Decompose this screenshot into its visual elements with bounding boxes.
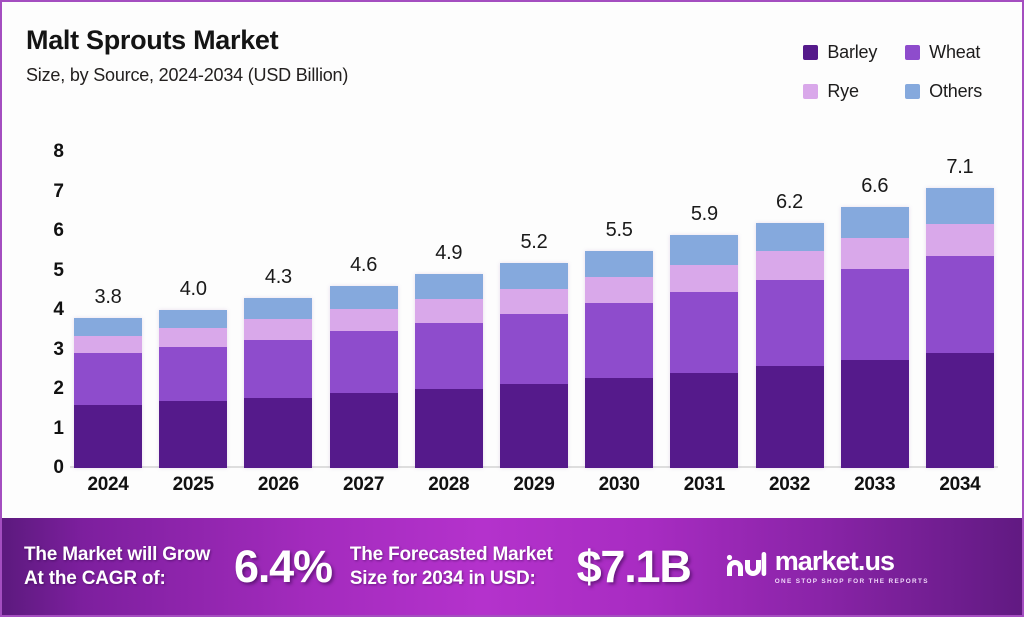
bar-segment-rye[interactable] xyxy=(585,277,653,303)
bar-segment-rye[interactable] xyxy=(756,251,824,280)
stacked-bar[interactable] xyxy=(415,274,483,468)
bar-segment-others[interactable] xyxy=(330,286,398,309)
legend-item-wheat[interactable]: Wheat xyxy=(905,42,982,63)
bar-segment-others[interactable] xyxy=(841,207,909,238)
bar-column-2032[interactable]: 6.2 xyxy=(756,152,824,468)
bar-column-2027[interactable]: 4.6 xyxy=(330,152,398,468)
legend-label: Others xyxy=(929,81,982,102)
market-us-logo-icon xyxy=(723,548,767,585)
bar-column-2030[interactable]: 5.5 xyxy=(585,152,653,468)
bar-total-label: 5.5 xyxy=(606,219,633,242)
bar-column-2031[interactable]: 5.9 xyxy=(670,152,738,468)
page-subtitle: Size, by Source, 2024-2034 (USD Billion) xyxy=(26,65,348,86)
chart-plot-area: 876543210 3.84.04.34.64.95.25.55.96.26.6… xyxy=(74,152,994,468)
bar-segment-others[interactable] xyxy=(926,188,994,224)
bar-segment-rye[interactable] xyxy=(415,299,483,323)
bar-segment-rye[interactable] xyxy=(244,319,312,340)
y-axis-tick: 8 xyxy=(30,141,64,163)
bar-segment-others[interactable] xyxy=(500,263,568,289)
bar-segment-others[interactable] xyxy=(756,223,824,251)
bar-segment-barley[interactable] xyxy=(926,353,994,468)
logo-name: market.us xyxy=(775,548,929,575)
bar-segment-rye[interactable] xyxy=(926,224,994,256)
chart-legend: BarleyWheatRyeOthers xyxy=(803,42,982,102)
forecast-block: The Forecasted Market Size for 2034 in U… xyxy=(350,541,709,593)
bar-segment-barley[interactable] xyxy=(330,393,398,468)
bar-column-2028[interactable]: 4.9 xyxy=(415,152,483,468)
cagr-label: The Market will Grow At the CAGR of: xyxy=(24,543,210,589)
infographic-container: Malt Sprouts Market Size, by Source, 202… xyxy=(0,0,1024,617)
bar-total-label: 4.6 xyxy=(350,254,377,277)
bar-segment-wheat[interactable] xyxy=(159,347,227,401)
bar-segment-wheat[interactable] xyxy=(500,314,568,384)
legend-item-rye[interactable]: Rye xyxy=(803,81,877,102)
bar-segment-others[interactable] xyxy=(244,298,312,319)
bar-segment-wheat[interactable] xyxy=(756,280,824,366)
bar-segment-rye[interactable] xyxy=(330,309,398,331)
bar-total-label: 7.1 xyxy=(946,156,973,179)
cagr-value: 6.4% xyxy=(234,541,332,593)
x-axis: 2024202520262027202820292030203120322033… xyxy=(74,474,994,496)
legend-swatch-icon xyxy=(905,45,920,60)
bar-segment-barley[interactable] xyxy=(585,378,653,468)
bar-total-label: 4.9 xyxy=(435,242,462,265)
legend-item-barley[interactable]: Barley xyxy=(803,42,877,63)
bar-segment-rye[interactable] xyxy=(841,238,909,269)
legend-label: Rye xyxy=(827,81,858,102)
forecast-value: $7.1B xyxy=(577,541,691,593)
x-axis-tick-2030: 2030 xyxy=(585,474,653,496)
legend-label: Barley xyxy=(827,42,877,63)
bar-segment-rye[interactable] xyxy=(670,265,738,293)
legend-swatch-icon xyxy=(803,84,818,99)
bar-segment-wheat[interactable] xyxy=(244,340,312,398)
stacked-bar[interactable] xyxy=(670,235,738,468)
y-axis-tick: 2 xyxy=(30,378,64,400)
x-axis-tick-2024: 2024 xyxy=(74,474,142,496)
bar-segment-barley[interactable] xyxy=(841,360,909,468)
bar-segment-wheat[interactable] xyxy=(926,256,994,354)
bar-segment-barley[interactable] xyxy=(244,398,312,468)
logo-tagline: ONE STOP SHOP FOR THE REPORTS xyxy=(775,578,929,585)
y-axis-tick: 4 xyxy=(30,299,64,321)
y-axis-tick: 0 xyxy=(30,457,64,479)
bar-total-label: 3.8 xyxy=(95,286,122,309)
bar-segment-wheat[interactable] xyxy=(415,323,483,389)
legend-swatch-icon xyxy=(803,45,818,60)
bar-segment-barley[interactable] xyxy=(415,389,483,468)
y-axis: 876543210 xyxy=(30,152,64,468)
bar-column-2033[interactable]: 6.6 xyxy=(841,152,909,468)
y-axis-tick: 1 xyxy=(30,418,64,440)
x-axis-tick-2034: 2034 xyxy=(926,474,994,496)
y-axis-tick: 3 xyxy=(30,339,64,361)
cagr-label-line2: At the CAGR of: xyxy=(24,568,166,589)
cagr-label-line1: The Market will Grow xyxy=(24,544,210,565)
bar-segment-rye[interactable] xyxy=(159,328,227,347)
stacked-bar[interactable] xyxy=(330,286,398,468)
stacked-bar[interactable] xyxy=(585,251,653,468)
bar-column-2026[interactable]: 4.3 xyxy=(244,152,312,468)
bar-total-label: 6.6 xyxy=(861,175,888,198)
bar-segment-barley[interactable] xyxy=(670,373,738,468)
summary-banner: The Market will Grow At the CAGR of: 6.4… xyxy=(2,518,1022,615)
page-title: Malt Sprouts Market xyxy=(26,26,348,56)
x-axis-tick-2032: 2032 xyxy=(756,474,824,496)
x-axis-tick-2027: 2027 xyxy=(330,474,398,496)
bar-total-label: 6.2 xyxy=(776,191,803,214)
bar-segment-wheat[interactable] xyxy=(585,303,653,378)
bar-segment-barley[interactable] xyxy=(756,366,824,468)
bar-segment-barley[interactable] xyxy=(159,401,227,468)
bar-total-label: 4.0 xyxy=(180,278,207,301)
brand-logo[interactable]: market.us ONE STOP SHOP FOR THE REPORTS xyxy=(723,548,929,585)
x-axis-tick-2033: 2033 xyxy=(841,474,909,496)
bar-segment-others[interactable] xyxy=(74,318,142,336)
y-axis-tick: 6 xyxy=(30,220,64,242)
legend-item-others[interactable]: Others xyxy=(905,81,982,102)
bar-segment-others[interactable] xyxy=(415,274,483,298)
bar-segment-others[interactable] xyxy=(670,235,738,265)
bar-column-2029[interactable]: 5.2 xyxy=(500,152,568,468)
bar-segment-rye[interactable] xyxy=(500,289,568,314)
bar-group: 3.84.04.34.64.95.25.55.96.26.67.1 xyxy=(74,152,994,468)
bar-segment-others[interactable] xyxy=(585,251,653,277)
stacked-bar[interactable] xyxy=(74,318,142,468)
bar-segment-others[interactable] xyxy=(159,310,227,328)
stacked-bar[interactable] xyxy=(926,188,994,468)
bar-total-label: 5.2 xyxy=(520,231,547,254)
x-axis-tick-2025: 2025 xyxy=(159,474,227,496)
stacked-bar[interactable] xyxy=(159,310,227,468)
bar-segment-wheat[interactable] xyxy=(74,353,142,404)
x-axis-tick-2031: 2031 xyxy=(670,474,738,496)
x-axis-tick-2026: 2026 xyxy=(244,474,312,496)
y-axis-tick: 7 xyxy=(30,181,64,203)
bar-segment-wheat[interactable] xyxy=(841,269,909,360)
stacked-bar[interactable] xyxy=(841,207,909,468)
bar-column-2024[interactable]: 3.8 xyxy=(74,152,142,468)
x-axis-tick-2029: 2029 xyxy=(500,474,568,496)
bar-segment-barley[interactable] xyxy=(500,384,568,468)
stacked-bar[interactable] xyxy=(500,263,568,468)
bar-total-label: 5.9 xyxy=(691,203,718,226)
forecast-label-line1: The Forecasted Market xyxy=(350,544,553,565)
bar-segment-wheat[interactable] xyxy=(330,331,398,393)
legend-label: Wheat xyxy=(929,42,980,63)
bar-segment-wheat[interactable] xyxy=(670,292,738,373)
bar-column-2034[interactable]: 7.1 xyxy=(926,152,994,468)
chart-header: Malt Sprouts Market Size, by Source, 202… xyxy=(26,26,348,85)
cagr-block: The Market will Grow At the CAGR of: 6.4… xyxy=(24,541,350,593)
stacked-bar[interactable] xyxy=(244,298,312,468)
x-axis-tick-2028: 2028 xyxy=(415,474,483,496)
bar-total-label: 4.3 xyxy=(265,266,292,289)
legend-swatch-icon xyxy=(905,84,920,99)
stacked-bar[interactable] xyxy=(756,223,824,468)
forecast-label: The Forecasted Market Size for 2034 in U… xyxy=(350,543,553,589)
bar-column-2025[interactable]: 4.0 xyxy=(159,152,227,468)
y-axis-tick: 5 xyxy=(30,260,64,282)
bar-segment-rye[interactable] xyxy=(74,336,142,354)
bar-segment-barley[interactable] xyxy=(74,405,142,468)
logo-wordmark: market.us ONE STOP SHOP FOR THE REPORTS xyxy=(775,548,929,585)
forecast-label-line2: Size for 2034 in USD: xyxy=(350,568,536,589)
